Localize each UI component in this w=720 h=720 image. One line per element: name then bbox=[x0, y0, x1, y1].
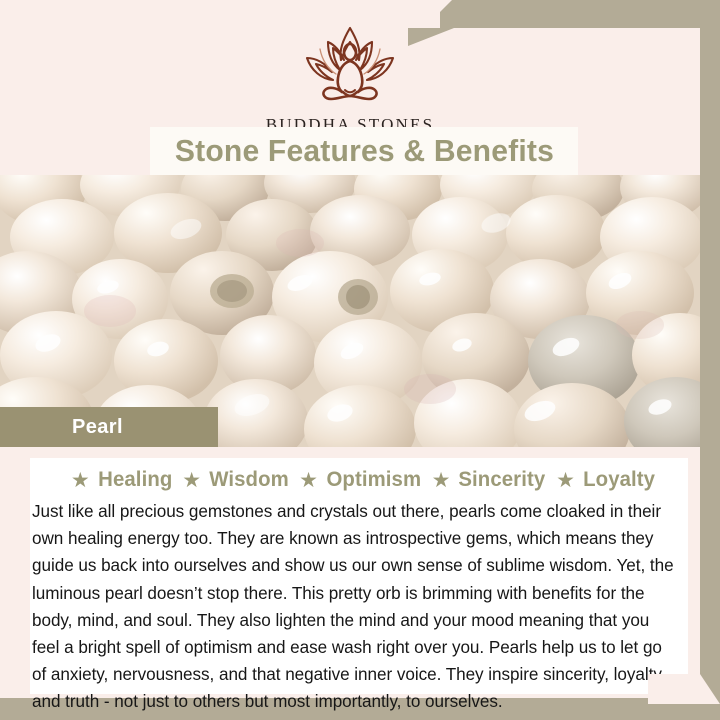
benefit-item-loyalty: ★ Loyalty bbox=[547, 468, 656, 492]
star-icon: ★ bbox=[432, 470, 451, 491]
star-icon: ★ bbox=[299, 470, 318, 491]
benefit-label: Wisdom bbox=[209, 468, 289, 492]
brand-logo: BUDDHA STONES bbox=[0, 22, 700, 135]
pearl-photo: Pearl bbox=[0, 175, 700, 447]
benefit-item-optimism: ★ Optimism bbox=[290, 468, 422, 492]
star-icon: ★ bbox=[71, 470, 90, 491]
stone-description: Just like all precious gemstones and cry… bbox=[32, 498, 674, 716]
stone-name: Pearl bbox=[72, 416, 123, 439]
benefit-item-healing: ★ Healing bbox=[62, 468, 173, 492]
benefits-list: ★ Healing ★ Wisdom ★ Optimism ★ Sincerit… bbox=[30, 468, 688, 492]
infographic-page: BUDDHA STONES Stone Features & Benefits bbox=[0, 0, 720, 720]
benefit-label: Optimism bbox=[326, 468, 421, 492]
benefit-item-wisdom: ★ Wisdom bbox=[173, 468, 290, 492]
stone-label-bar: Pearl bbox=[0, 407, 218, 447]
benefit-item-sincerity: ★ Sincerity bbox=[423, 468, 547, 492]
card-bottom-diagonal-cut bbox=[648, 674, 720, 704]
star-icon: ★ bbox=[556, 470, 575, 491]
star-icon: ★ bbox=[182, 470, 201, 491]
lotus-meditation-icon bbox=[0, 22, 700, 113]
title-banner: Stone Features & Benefits bbox=[150, 127, 578, 175]
panel-top-strip bbox=[0, 447, 700, 458]
benefit-label: Healing bbox=[98, 468, 172, 492]
benefit-label: Sincerity bbox=[459, 468, 546, 492]
benefit-label: Loyalty bbox=[583, 468, 655, 492]
page-title: Stone Features & Benefits bbox=[174, 133, 553, 169]
